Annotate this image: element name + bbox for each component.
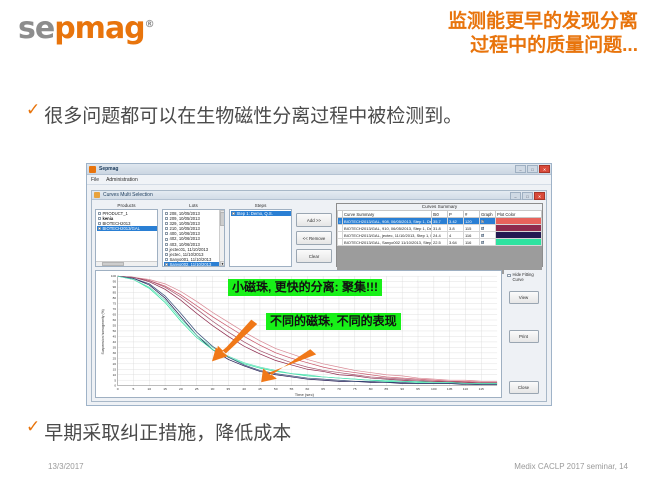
empty-cell xyxy=(480,253,496,260)
curve-name: BIOTECH2013/GAL, 910, 06/05/2013, Step 1… xyxy=(343,225,432,232)
plot-color-swatch[interactable] xyxy=(496,218,542,225)
checkbox-icon[interactable] xyxy=(165,258,168,261)
svg-text:5: 5 xyxy=(114,378,116,382)
window-controls: – □ ✕ xyxy=(515,165,550,173)
logo-text-orange: pmag xyxy=(54,11,144,46)
svg-text:85: 85 xyxy=(113,291,117,295)
svg-text:60: 60 xyxy=(305,387,309,391)
svg-text:45: 45 xyxy=(258,387,262,391)
maximize-button[interactable]: □ xyxy=(527,165,538,173)
empty-cell xyxy=(448,246,464,253)
svg-text:95: 95 xyxy=(416,387,420,391)
checkbox-icon[interactable] xyxy=(165,248,168,251)
app-title: Sepmag xyxy=(99,166,118,172)
scroll-down-icon[interactable]: ▼ xyxy=(220,261,225,266)
svg-text:70: 70 xyxy=(337,387,341,391)
child-maximize-button[interactable]: □ xyxy=(522,192,533,200)
svg-text:20: 20 xyxy=(113,362,117,366)
checkbox-icon[interactable] xyxy=(165,243,168,246)
svg-text:65: 65 xyxy=(321,387,325,391)
svg-text:85: 85 xyxy=(385,387,389,391)
bullet-item-1: ✓ 很多问题都可以在生物磁性分离过程中被检测到。 xyxy=(26,101,462,128)
svg-text:10: 10 xyxy=(147,387,151,391)
svg-text:30: 30 xyxy=(113,351,117,355)
annotation-arrow-2 xyxy=(261,349,316,382)
child-window-title: Curves Multi Selection xyxy=(103,192,153,198)
svg-text:110: 110 xyxy=(463,387,469,391)
svg-text:55: 55 xyxy=(290,387,294,391)
svg-text:40: 40 xyxy=(242,387,246,391)
table-row[interactable]: BIOTECH2013/GAL, jectec, 11/10/2013, Ste… xyxy=(338,232,542,239)
curves-summary-grid[interactable]: Curve Summaryt50P#GraphPlot Color iBIOTE… xyxy=(337,210,542,274)
list-item-label: BIOTECH2013/GAL xyxy=(103,226,140,231)
chart-y-axis-label: Suspension homogeneity (%) xyxy=(101,309,105,354)
p-value: 3.42 xyxy=(448,218,464,225)
table-row-empty xyxy=(338,260,542,267)
empty-cell xyxy=(432,253,448,260)
app-icon xyxy=(89,166,96,173)
curve-name: BIOTECH2013/GAL, jectec, 11/10/2013, Ste… xyxy=(343,232,432,239)
empty-cell xyxy=(480,260,496,267)
svg-text:35: 35 xyxy=(113,346,117,350)
p-value: 4 xyxy=(448,232,464,239)
hide-fitting-curve-checkbox[interactable]: Hide Fitting Curve xyxy=(504,270,543,282)
graph-checkbox-cell[interactable] xyxy=(480,232,496,239)
checkbox-icon[interactable] xyxy=(165,232,168,235)
checkbox-icon[interactable] xyxy=(165,217,168,220)
empty-cell xyxy=(464,253,480,260)
steps-listbox[interactable]: Step 1: Demo, Q.S. xyxy=(229,209,292,267)
column-header[interactable]: Curve Summary xyxy=(343,211,432,218)
products-listbox[interactable]: PRODUCT_1keniaBIOTECH2013BIOTECH2013/GAL xyxy=(95,209,158,267)
checkbox-icon[interactable] xyxy=(507,274,511,278)
chart-tools-panel: Hide Fitting Curve View Print Close xyxy=(504,270,543,398)
checkbox-icon[interactable] xyxy=(98,217,101,220)
remove-button[interactable]: << Remove xyxy=(296,231,332,245)
svg-text:5: 5 xyxy=(133,387,135,391)
page-title-line-2: 过程中的质量问题... xyxy=(338,34,638,58)
svg-text:70: 70 xyxy=(113,307,117,311)
checkmark-icon: ✓ xyxy=(26,101,40,120)
child-titlebar: Curves Multi Selection – □ ✕ xyxy=(92,191,546,200)
bullet-item-2: ✓ 早期采取纠正措施，降低成本 xyxy=(26,418,291,445)
empty-cell xyxy=(496,253,542,260)
svg-text:115: 115 xyxy=(479,387,485,391)
empty-cell xyxy=(432,246,448,253)
column-header[interactable]: Graph xyxy=(480,211,496,218)
child-window-icon xyxy=(94,192,100,198)
count-value: 116 xyxy=(464,232,480,239)
list-item[interactable]: Step 1: Demo, Q.S. xyxy=(231,211,291,216)
lots-listbox[interactable]: ▲ ▼ 208, 10/05/2013209, 10/05/2013329, 1… xyxy=(162,209,225,267)
empty-cell xyxy=(343,253,432,260)
empty-cell xyxy=(496,260,542,267)
list-item-label: Step 1: Demo, Q.S. xyxy=(237,211,273,216)
checkbox-icon[interactable] xyxy=(98,212,101,215)
footer-date: 13/3/2017 xyxy=(48,462,84,471)
table-row-empty xyxy=(338,253,542,260)
svg-text:30: 30 xyxy=(211,387,215,391)
svg-text:15: 15 xyxy=(163,387,167,391)
svg-text:60: 60 xyxy=(113,318,117,322)
logo-text-gray: se xyxy=(18,11,54,46)
checkbox-icon[interactable] xyxy=(165,227,168,230)
chart-y-tick-labels: 0510152025303540455055606570758085909510… xyxy=(111,274,117,387)
page-title-line-1: 监测能更早的发现分离 xyxy=(338,10,638,34)
svg-text:20: 20 xyxy=(179,387,183,391)
svg-text:90: 90 xyxy=(400,387,404,391)
count-value: 115 xyxy=(464,225,480,232)
column-header[interactable]: Plot Color xyxy=(496,211,542,218)
graph-checkbox-cell[interactable] xyxy=(480,225,496,232)
table-row-empty xyxy=(338,246,542,253)
empty-cell xyxy=(464,260,480,267)
plot-color-swatch[interactable] xyxy=(496,232,542,239)
column-header[interactable]: P xyxy=(448,211,464,218)
bullet-item-1-label: 很多问题都可以在生物磁性分离过程中被检测到。 xyxy=(44,101,462,128)
app-titlebar: Sepmag – □ ✕ xyxy=(87,164,551,175)
empty-cell xyxy=(464,246,480,253)
lots-vscrollbar[interactable]: ▲ ▼ xyxy=(219,210,224,266)
graph-checkbox-cell[interactable] xyxy=(480,239,496,246)
sepmag-logo: sepmag® xyxy=(18,14,154,44)
empty-cell xyxy=(480,246,496,253)
plot-color-swatch[interactable] xyxy=(496,239,542,246)
checkbox-icon[interactable] xyxy=(98,227,101,230)
minimize-button[interactable]: – xyxy=(515,165,526,173)
checkbox-icon[interactable] xyxy=(232,212,235,215)
t50-value: 24.4 xyxy=(432,232,448,239)
column-header[interactable]: # xyxy=(464,211,480,218)
checkbox-icon[interactable] xyxy=(481,241,484,244)
menu-item-administration[interactable]: Administration xyxy=(106,177,138,183)
table-row[interactable]: iBIOTECH2013/GAL, 908, 06/05/2013, Step … xyxy=(338,218,542,225)
checkbox-icon[interactable] xyxy=(165,263,168,266)
add-button[interactable]: Add >> xyxy=(296,213,332,227)
p-value: 3.8 xyxy=(448,225,464,232)
list-item[interactable]: BIOTECH2013/GAL xyxy=(97,226,157,231)
svg-text:100: 100 xyxy=(111,274,117,278)
svg-text:100: 100 xyxy=(431,387,437,391)
app-menubar: File Administration xyxy=(87,175,551,185)
clear-button[interactable]: Clear xyxy=(296,249,332,263)
page-title: 监测能更早的发现分离 过程中的质量问题... xyxy=(338,10,638,58)
menu-item-file[interactable]: File xyxy=(91,177,99,183)
selection-panel: Products PRODUCT_1keniaBIOTECH2013BIOTEC… xyxy=(95,203,543,267)
annotation-callout-1: 小磁珠, 更快的分离: 聚集!!! xyxy=(228,279,382,296)
empty-cell xyxy=(496,246,542,253)
empty-cell xyxy=(432,260,448,267)
count-value: 120 xyxy=(464,218,480,225)
svg-text:75: 75 xyxy=(113,302,117,306)
t50-value: 22.5 xyxy=(432,239,448,246)
svg-text:35: 35 xyxy=(226,387,230,391)
child-window-controls: – □ ✕ xyxy=(510,192,545,200)
plot-color-swatch[interactable] xyxy=(496,225,542,232)
list-item-label: Sanyo002, 11/10/2013 xyxy=(170,262,212,267)
svg-text:25: 25 xyxy=(113,357,117,361)
bullet-item-2-label: 早期采取纠正措施，降低成本 xyxy=(44,418,291,445)
footer-attribution: Medix CACLP 2017 seminar, 14 xyxy=(514,462,628,471)
checkbox-icon[interactable] xyxy=(98,222,101,225)
graph-checkbox-cell[interactable] xyxy=(480,218,496,225)
table-row[interactable]: BIOTECH2013/GAL, Sanyo002 11/10/2013, St… xyxy=(338,239,542,246)
close-dialog-button[interactable]: Close xyxy=(509,381,539,394)
t50-value: 35.7 xyxy=(432,218,448,225)
svg-text:65: 65 xyxy=(113,313,117,317)
view-button[interactable]: View xyxy=(509,291,539,304)
checkbox-icon[interactable] xyxy=(481,234,484,237)
curve-name: BIOTECH2013/GAL, Sanyo002 11/10/2013, St… xyxy=(343,239,432,246)
svg-text:15: 15 xyxy=(113,368,117,372)
column-header[interactable]: t50 xyxy=(432,211,448,218)
lots-vscroll-thumb[interactable] xyxy=(220,212,225,226)
empty-cell xyxy=(448,260,464,267)
close-button[interactable]: ✕ xyxy=(539,165,550,173)
svg-text:75: 75 xyxy=(353,387,357,391)
checkbox-icon[interactable] xyxy=(165,222,168,225)
empty-cell xyxy=(448,253,464,260)
svg-text:40: 40 xyxy=(113,340,117,344)
annotation-callout-2: 不同的磁珠, 不同的表现 xyxy=(266,313,401,330)
checkbox-icon[interactable] xyxy=(165,253,168,256)
svg-text:25: 25 xyxy=(195,387,199,391)
table-header-row: Curve Summaryt50P#GraphPlot Color xyxy=(338,211,542,218)
chart-x-tick-labels: 0510152025303540455055606570758085909510… xyxy=(117,387,484,391)
list-item[interactable]: Sanyo002, 11/10/2013 xyxy=(164,262,224,267)
svg-text:105: 105 xyxy=(447,387,453,391)
curves-multi-selection-window: Curves Multi Selection – □ ✕ Products PR… xyxy=(91,190,547,402)
empty-cell xyxy=(343,246,432,253)
svg-text:50: 50 xyxy=(113,329,117,333)
curves-summary-table: Curve Summaryt50P#GraphPlot Color iBIOTE… xyxy=(337,210,542,274)
checkmark-icon: ✓ xyxy=(26,418,40,437)
svg-text:95: 95 xyxy=(113,280,117,284)
svg-text:0: 0 xyxy=(117,387,119,391)
print-button[interactable]: Print xyxy=(509,330,539,343)
lots-column: Lots ▲ ▼ 208, 10/05/2013209, 10/05/20133… xyxy=(162,203,225,267)
steps-column: Steps Step 1: Demo, Q.S. xyxy=(229,203,292,267)
t50-value: 31.8 xyxy=(432,225,448,232)
products-hscroll-thumb[interactable] xyxy=(102,262,124,266)
svg-text:50: 50 xyxy=(274,387,278,391)
svg-text:80: 80 xyxy=(369,387,373,391)
child-minimize-button[interactable]: – xyxy=(510,192,521,200)
checkbox-icon[interactable] xyxy=(165,212,168,215)
empty-cell xyxy=(343,260,432,267)
svg-text:90: 90 xyxy=(113,285,117,289)
checkbox-icon[interactable] xyxy=(165,238,168,241)
hide-fitting-curve-label: Hide Fitting Curve xyxy=(513,273,542,282)
table-row[interactable]: BIOTECH2013/GAL, 910, 06/05/2013, Step 1… xyxy=(338,225,542,232)
registered-mark-icon: ® xyxy=(145,19,154,30)
curve-name: BIOTECH2013/GAL, 908, 06/05/2013, Step 1… xyxy=(343,218,432,225)
checkbox-icon[interactable] xyxy=(481,220,484,223)
count-value: 116 xyxy=(464,239,480,246)
svg-text:80: 80 xyxy=(113,296,117,300)
svg-text:45: 45 xyxy=(113,335,117,339)
checkbox-icon[interactable] xyxy=(481,227,484,230)
svg-text:55: 55 xyxy=(113,324,117,328)
p-value: 3.64 xyxy=(448,239,464,246)
transfer-buttons: Add >> << Remove Clear xyxy=(296,203,332,267)
child-close-button[interactable]: ✕ xyxy=(534,192,545,200)
products-hscrollbar[interactable] xyxy=(96,261,157,266)
curves-summary-panel: Curves Summary Curve Summaryt50P#GraphPl… xyxy=(336,203,543,267)
chart-x-axis-label: Time (sec) xyxy=(295,392,315,397)
svg-text:10: 10 xyxy=(113,373,117,377)
products-column: Products PRODUCT_1keniaBIOTECH2013BIOTEC… xyxy=(95,203,158,267)
